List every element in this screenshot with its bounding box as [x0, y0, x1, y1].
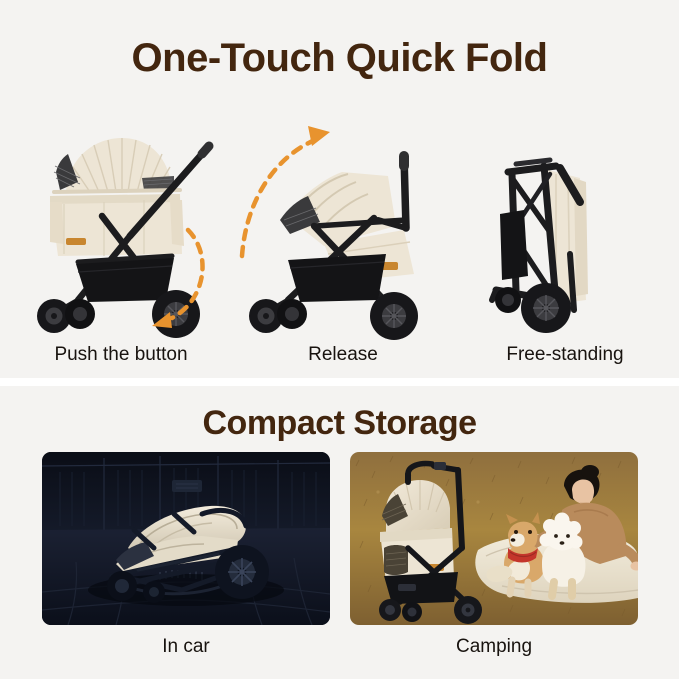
stroller-half-folded-illustration: [228, 104, 454, 344]
stroller-camping-with-dogs-photo: [350, 452, 638, 625]
folded-stroller-in-car-trunk-photo: [42, 452, 330, 625]
photo-in-car-caption: In car: [42, 636, 330, 658]
fold-step-2: [228, 104, 454, 344]
page-title-compact-storage: Compact Storage: [0, 404, 679, 442]
fold-step-1: [4, 104, 230, 344]
fold-steps-row: [0, 104, 679, 344]
page-title-one-touch-quick-fold: One-Touch Quick Fold: [0, 36, 679, 80]
photo-in-car: [42, 452, 330, 625]
fold-step-1-caption: Push the button: [8, 344, 234, 366]
section-one-touch-quick-fold: One-Touch Quick Fold: [0, 0, 679, 378]
photo-camping: [350, 452, 638, 625]
stroller-unfolded-illustration: [4, 104, 230, 344]
section-compact-storage: Compact Storage: [0, 386, 679, 679]
fold-step-3-caption: Free-standing: [452, 344, 678, 366]
section-divider: [0, 378, 679, 386]
fold-step-2-caption: Release: [230, 344, 456, 366]
stroller-fully-folded-illustration: [452, 104, 678, 344]
infographic-page: One-Touch Quick Fold: [0, 0, 679, 679]
photo-camping-caption: Camping: [350, 636, 638, 658]
fold-step-3: [452, 104, 678, 344]
